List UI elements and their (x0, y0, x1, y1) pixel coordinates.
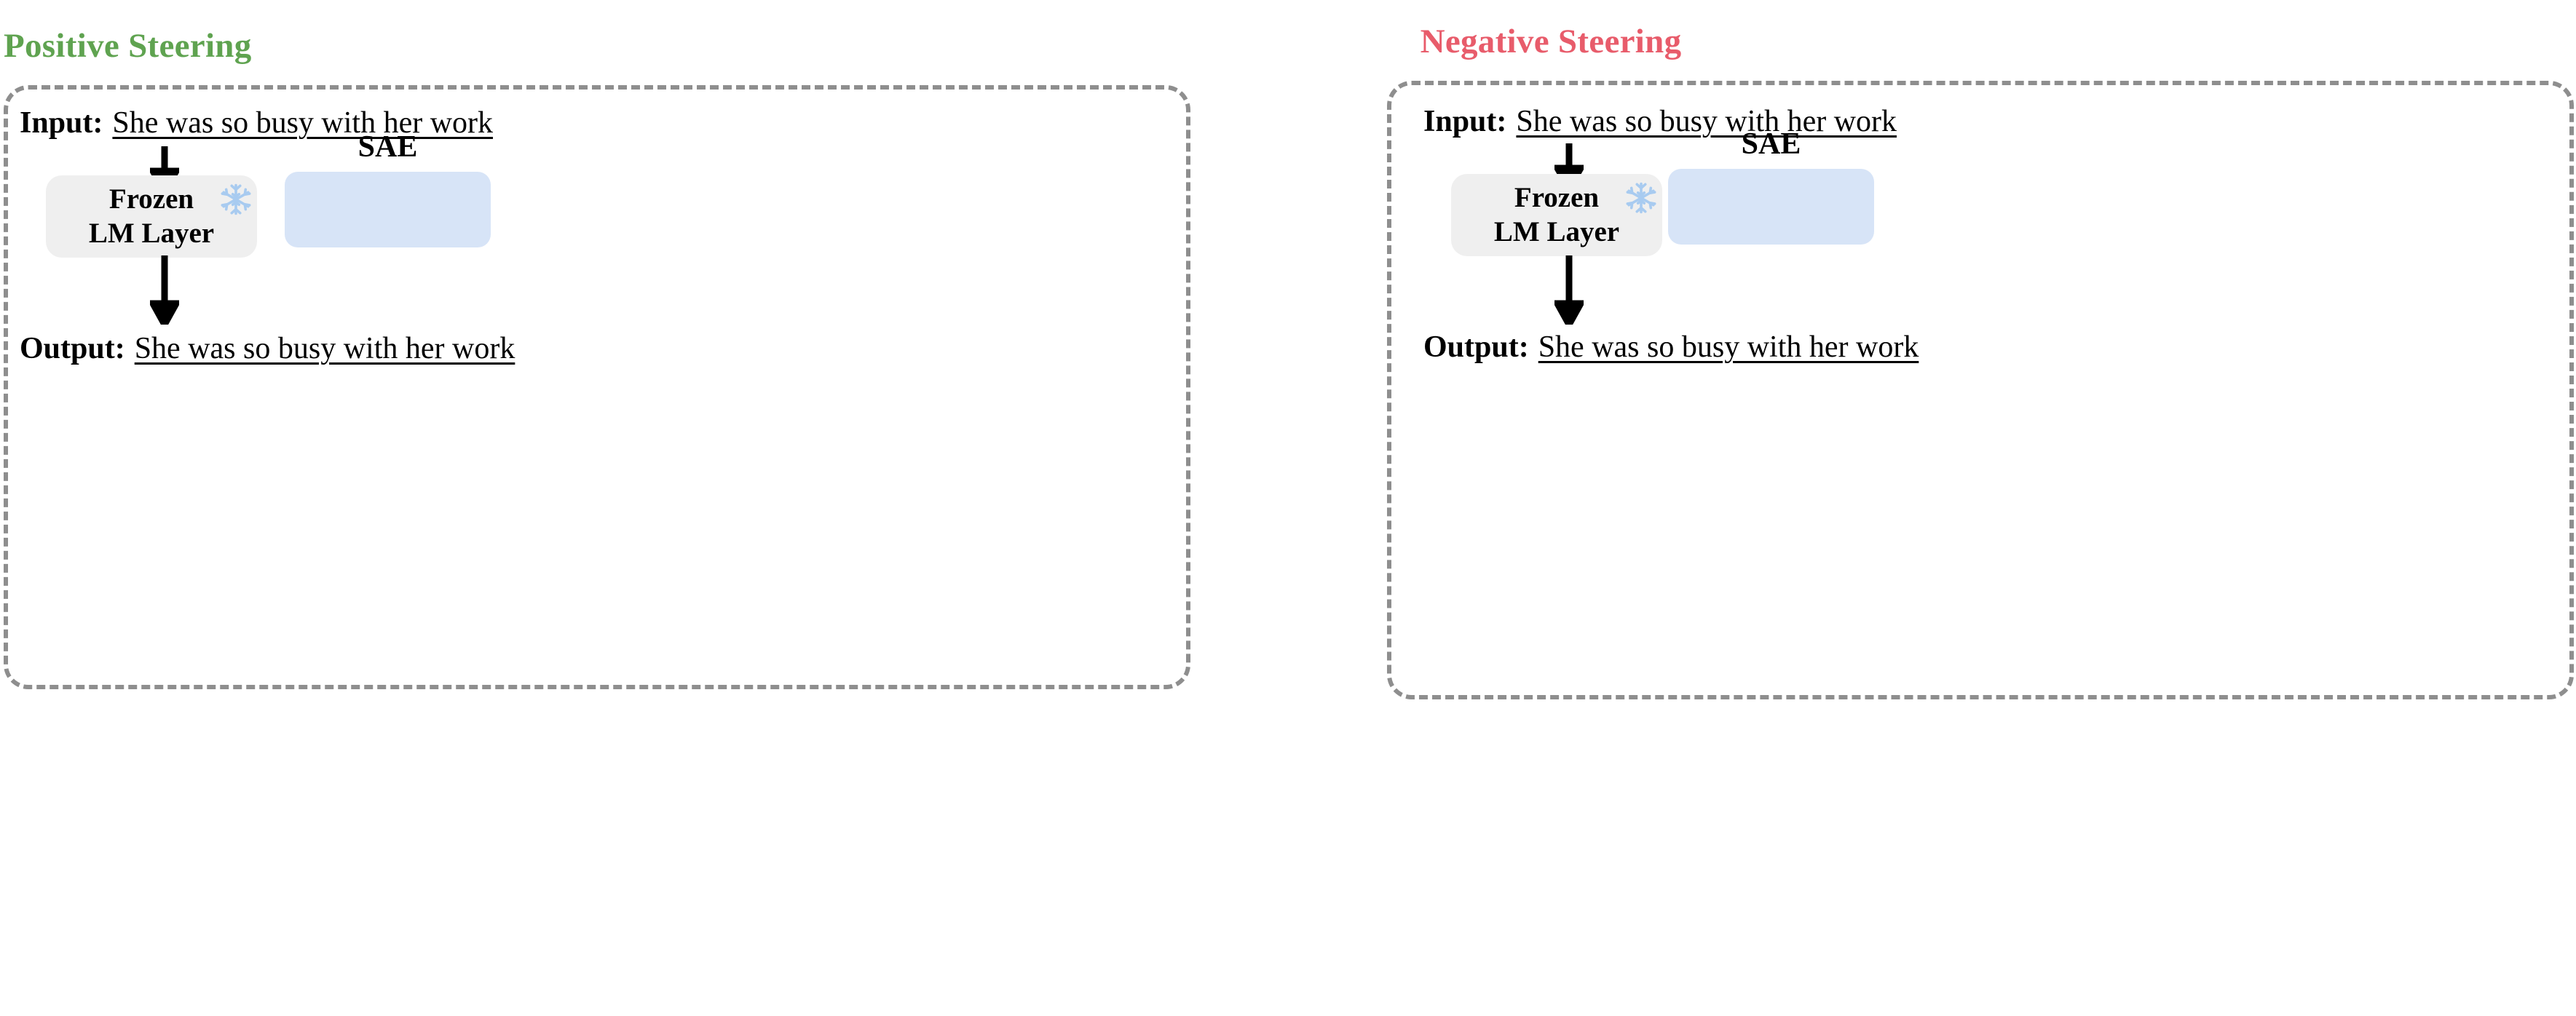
snowflake-icon-negative (1624, 181, 1658, 215)
input-label-negative: Input: (1423, 104, 1506, 139)
sae-box-positive (285, 172, 491, 247)
frozen-lm-layer-box-positive: Frozen LM Layer (46, 175, 257, 258)
sae-group-negative: SAE (1668, 129, 1874, 245)
input-label-positive: Input: (20, 106, 103, 140)
panel-border-negative: Input: She was so busy with her work Fro… (1387, 81, 2574, 699)
frozen-lm-layer-line1-negative: Frozen (1514, 181, 1599, 215)
down-arrow-icon-output-negative (1554, 255, 1584, 325)
sae-label-positive: SAE (285, 132, 491, 162)
sae-group-positive: SAE (285, 132, 491, 247)
panel-title-positive: Positive Steering (4, 29, 1190, 63)
panel-negative-steering: Negative Steering Input: She was so busy… (1387, 25, 2574, 699)
output-label-positive: Output: (20, 331, 125, 366)
output-text-negative: She was so busy with her work (1538, 330, 1919, 365)
figure-canvas: Positive Steering Input: She was so busy… (0, 0, 2576, 1016)
sae-label-negative: SAE (1668, 129, 1874, 159)
panel-positive-steering: Positive Steering Input: She was so busy… (4, 29, 1190, 689)
sae-box-negative (1668, 169, 1874, 245)
output-text-positive: She was so busy with her work (135, 331, 515, 366)
output-row-negative: Output: She was so busy with her work (1423, 330, 1919, 365)
frozen-lm-layer-line2-positive: LM Layer (89, 217, 214, 250)
output-label-negative: Output: (1423, 330, 1529, 365)
panel-title-negative: Negative Steering (1387, 25, 2574, 59)
output-row-positive: Output: She was so busy with her work (20, 331, 515, 366)
down-arrow-icon-output-positive (150, 255, 179, 325)
frozen-lm-layer-line2-negative: LM Layer (1494, 215, 1619, 249)
frozen-lm-layer-line1-positive: Frozen (109, 183, 194, 216)
panel-border-positive: Input: She was so busy with her work Fro… (4, 85, 1190, 689)
frozen-lm-layer-box-negative: Frozen LM Layer (1451, 174, 1662, 256)
snowflake-icon-positive (219, 183, 253, 216)
